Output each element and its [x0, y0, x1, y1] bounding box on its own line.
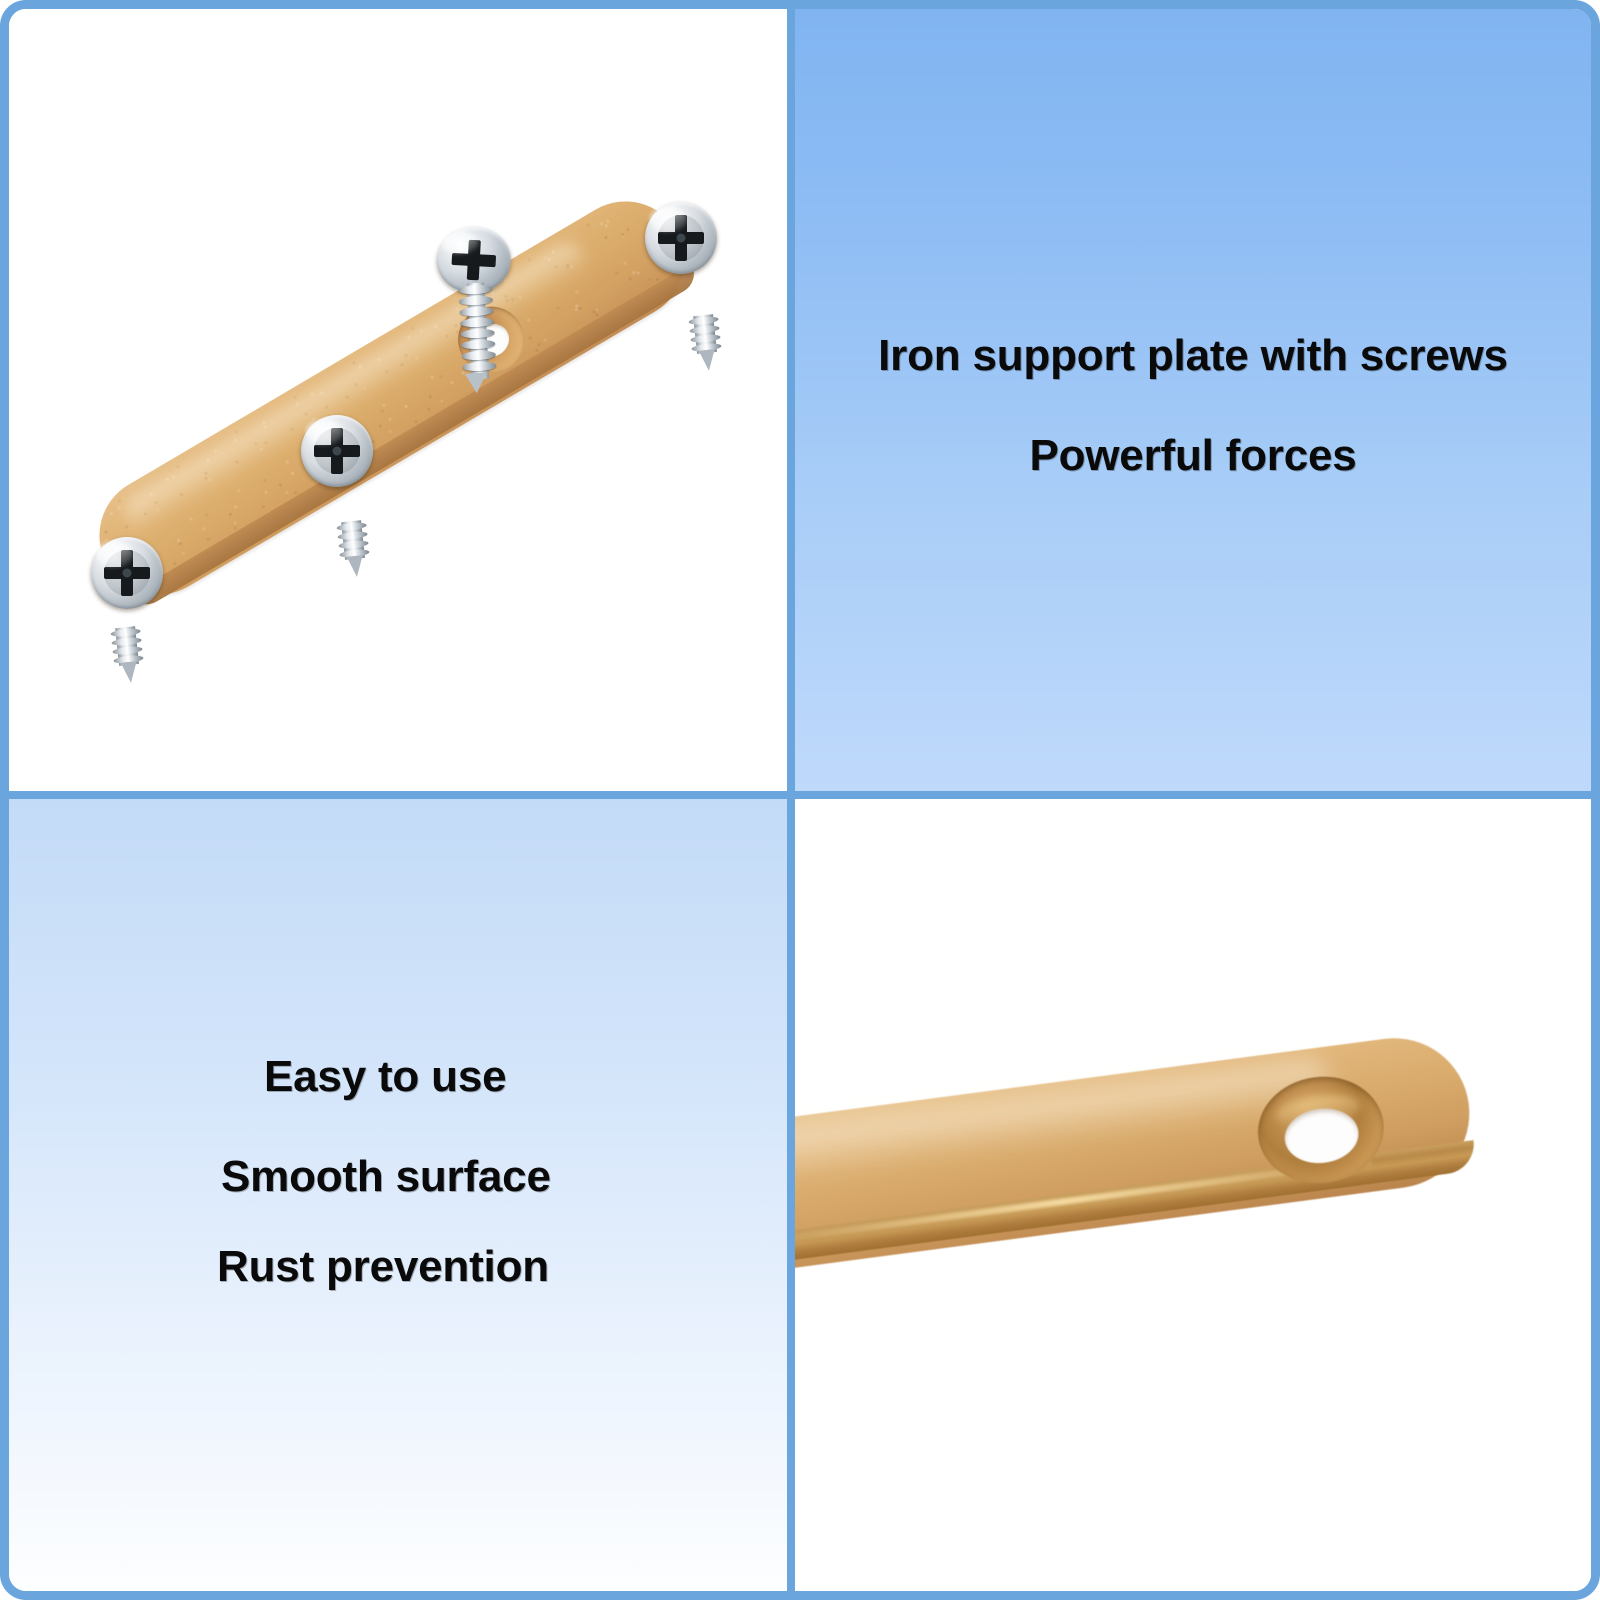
top-right-text-block: Iron support plate with screws Powerful …: [795, 9, 1591, 791]
screw-thread: [462, 361, 496, 372]
panel-divider-vertical: [787, 9, 795, 1591]
screw-highlight: [96, 542, 133, 566]
panel-top-left: [9, 9, 787, 791]
screw-slot-center: [333, 447, 342, 456]
screw-head-icon: [301, 415, 373, 487]
screw-slot-center: [123, 569, 132, 578]
screw-highlight: [306, 420, 343, 444]
panel-top-right: Iron support plate with screws Powerful …: [795, 9, 1591, 791]
screw-thread: [458, 284, 492, 295]
product-photo-macro-end: [795, 799, 1591, 1591]
screw-slot-center: [677, 234, 686, 243]
screw-thread: [462, 350, 496, 361]
headline-powerful-forces: Powerful forces: [795, 431, 1591, 481]
feature-rust-prevention: Rust prevention: [217, 1242, 549, 1292]
feature-smooth-surface: Smooth surface: [221, 1152, 551, 1202]
product-image-collage: Iron support plate with screws Powerful …: [0, 0, 1600, 1600]
screw-thread: [460, 317, 494, 328]
screw-thread: [461, 339, 495, 350]
screw-tip-icon: [110, 626, 146, 685]
bottom-left-text-block: Easy to use Smooth surface Rust preventi…: [9, 799, 787, 1591]
screw-point: [347, 555, 365, 578]
loose-screw: [435, 225, 517, 379]
screw-thread: [459, 306, 493, 317]
feature-easy-to-use: Easy to use: [264, 1052, 506, 1102]
screw-highlight: [650, 207, 687, 231]
screw-thread: [460, 328, 494, 339]
screw-tip-icon: [336, 520, 372, 579]
screw-point: [121, 661, 139, 684]
headline-iron-support-plate: Iron support plate with screws: [795, 331, 1591, 381]
screw-head-icon: [91, 537, 163, 609]
screw-head-icon: [645, 202, 717, 274]
screw-point: [699, 349, 717, 372]
panel-divider-horizontal: [9, 791, 1591, 799]
plate-texture: [78, 180, 707, 617]
screw-point: [465, 373, 488, 394]
support-plate: [78, 180, 707, 617]
support-plate-closeup: [795, 1029, 1478, 1274]
screw-thread: [459, 295, 493, 306]
screw-tip-icon: [688, 314, 724, 373]
panel-bottom-left: Easy to use Smooth surface Rust preventi…: [9, 799, 787, 1591]
plate-scene: [9, 9, 787, 791]
product-photo-angled-plate: [9, 9, 787, 791]
screw-shank: [458, 282, 497, 380]
panel-bottom-right: [795, 799, 1591, 1591]
